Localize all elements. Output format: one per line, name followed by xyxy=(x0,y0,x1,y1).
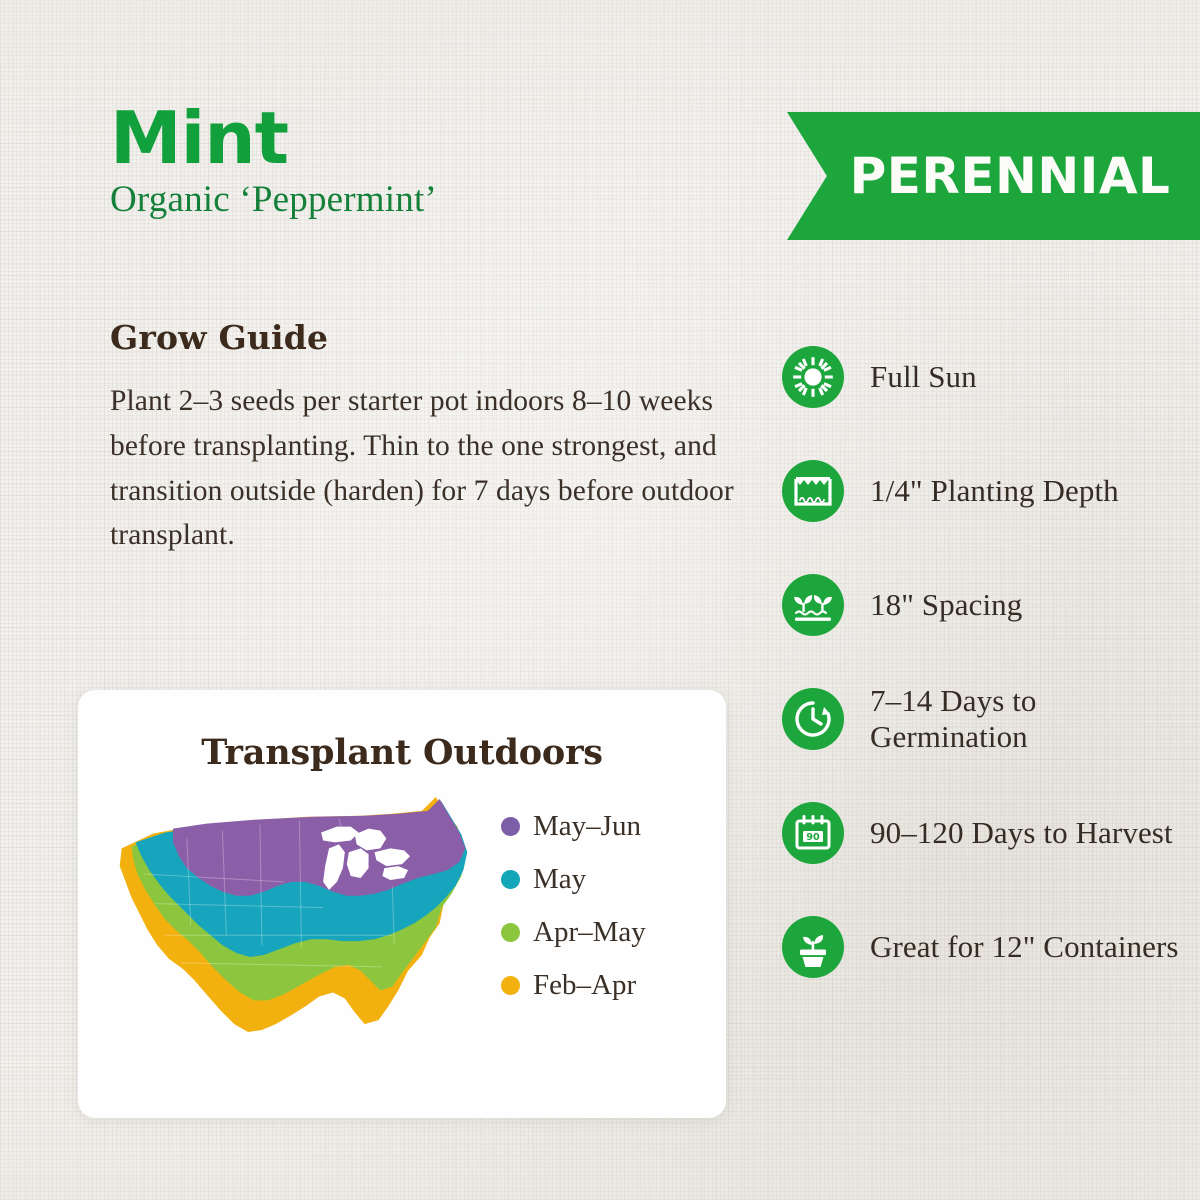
clock-icon xyxy=(782,688,844,750)
container-plant-icon xyxy=(782,916,844,978)
legend-label: Feb–Apr xyxy=(533,969,636,1002)
spacing-icon xyxy=(782,574,844,636)
fact-row-full-sun: Full Sun xyxy=(782,320,1192,434)
fact-row-containers: Great for 12" Containers xyxy=(782,890,1192,1004)
grow-guide-heading: Grow Guide xyxy=(110,318,740,357)
map-card-title: Transplant Outdoors xyxy=(78,690,726,773)
legend-dot-apr-may xyxy=(501,923,520,942)
map-legend: May–Jun May Apr–May Feb–Apr xyxy=(501,810,646,1020)
map-card-body: May–Jun May Apr–May Feb–Apr xyxy=(78,773,726,1042)
fact-label: 18" Spacing xyxy=(870,587,1022,623)
grow-guide-section: Grow Guide Plant 2–3 seeds per starter p… xyxy=(110,318,740,558)
fact-row-germination: 7–14 Days to Germination xyxy=(782,662,1192,776)
transplant-map-card: Transplant Outdoors xyxy=(78,690,726,1118)
fact-label: 90–120 Days to Harvest xyxy=(870,815,1173,851)
legend-item: Apr–May xyxy=(501,916,646,949)
calendar-day-number: 90 xyxy=(806,832,820,843)
legend-label: Apr–May xyxy=(533,916,646,949)
fact-row-harvest: 90 90–120 Days to Harvest xyxy=(782,776,1192,890)
fact-label: 7–14 Days to Germination xyxy=(870,683,1192,756)
fact-row-spacing: 18" Spacing xyxy=(782,548,1192,662)
lifecycle-banner: PERENNIAL xyxy=(787,112,1200,240)
legend-dot-feb-apr xyxy=(501,976,520,995)
fact-row-planting-depth: 1/4" Planting Depth xyxy=(782,434,1192,548)
calendar-icon: 90 xyxy=(782,802,844,864)
fact-label: Great for 12" Containers xyxy=(870,929,1179,965)
legend-label: May xyxy=(533,863,586,896)
growing-facts-list: Full Sun 1/4" Planting Depth xyxy=(782,320,1192,1004)
legend-item: May–Jun xyxy=(501,810,646,843)
grow-guide-body-text: Plant 2–3 seeds per starter pot indoors … xyxy=(110,379,740,558)
legend-item: Feb–Apr xyxy=(501,969,646,1002)
fact-label: Full Sun xyxy=(870,359,977,395)
sun-icon xyxy=(782,346,844,408)
title-block: Mint Organic ‘Peppermint’ xyxy=(110,104,750,221)
us-climate-map xyxy=(96,787,491,1042)
page-title: Mint xyxy=(110,104,750,172)
fact-label: 1/4" Planting Depth xyxy=(870,473,1119,509)
planting-depth-icon xyxy=(782,460,844,522)
lifecycle-banner-label: PERENNIAL xyxy=(824,147,1171,205)
legend-dot-may xyxy=(501,870,520,889)
legend-item: May xyxy=(501,863,646,896)
legend-label: May–Jun xyxy=(533,810,641,843)
legend-dot-may-jun xyxy=(501,817,520,836)
plant-variety-subtitle: Organic ‘Peppermint’ xyxy=(110,180,750,221)
